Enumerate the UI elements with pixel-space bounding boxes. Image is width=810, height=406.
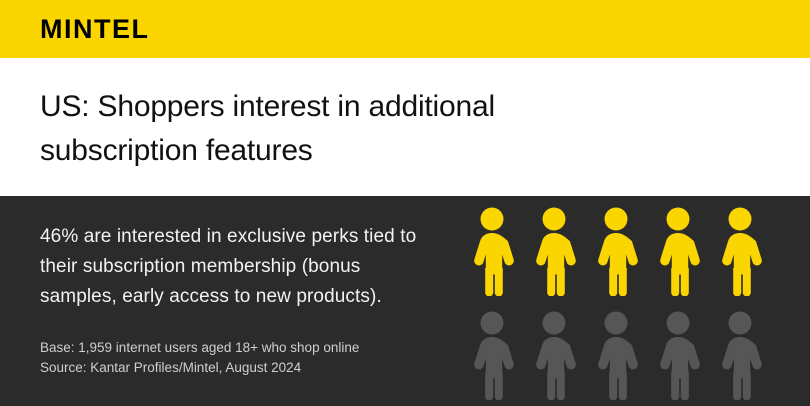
mintel-logo: MINTEL xyxy=(40,15,150,43)
person-icon-muted-4 xyxy=(654,310,702,400)
person-icon-filled-1 xyxy=(468,206,516,296)
content-panel: 46% are interested in exclusive perks ti… xyxy=(0,196,810,406)
page-title-line-1: US: Shoppers interest in additional xyxy=(40,85,640,129)
pictogram-row-muted xyxy=(468,310,764,400)
person-icon-filled-2 xyxy=(530,206,578,296)
person-icon-muted-1 xyxy=(468,310,516,400)
pictogram-chart xyxy=(468,206,798,406)
infographic-root: MINTEL US: Shoppers interest in addition… xyxy=(0,0,810,406)
person-icon-filled-4 xyxy=(654,206,702,296)
footnote: Base: 1,959 internet users aged 18+ who … xyxy=(40,338,460,378)
page-title-line-2: subscription features xyxy=(40,129,640,173)
title-band: US: Shoppers interest in additional subs… xyxy=(0,58,810,196)
footnote-source: Source: Kantar Profiles/Mintel, August 2… xyxy=(40,358,460,378)
brand-banner: MINTEL xyxy=(0,0,810,58)
person-icon-filled-5 xyxy=(716,206,764,296)
person-icon-muted-5 xyxy=(716,310,764,400)
person-icon-muted-2 xyxy=(530,310,578,400)
footnote-base: Base: 1,959 internet users aged 18+ who … xyxy=(40,338,460,358)
stat-statement: 46% are interested in exclusive perks ti… xyxy=(40,222,440,312)
page-title: US: Shoppers interest in additional subs… xyxy=(40,85,640,173)
person-icon-muted-3 xyxy=(592,310,640,400)
pictogram-row-highlighted xyxy=(468,206,764,296)
person-icon-filled-3 xyxy=(592,206,640,296)
